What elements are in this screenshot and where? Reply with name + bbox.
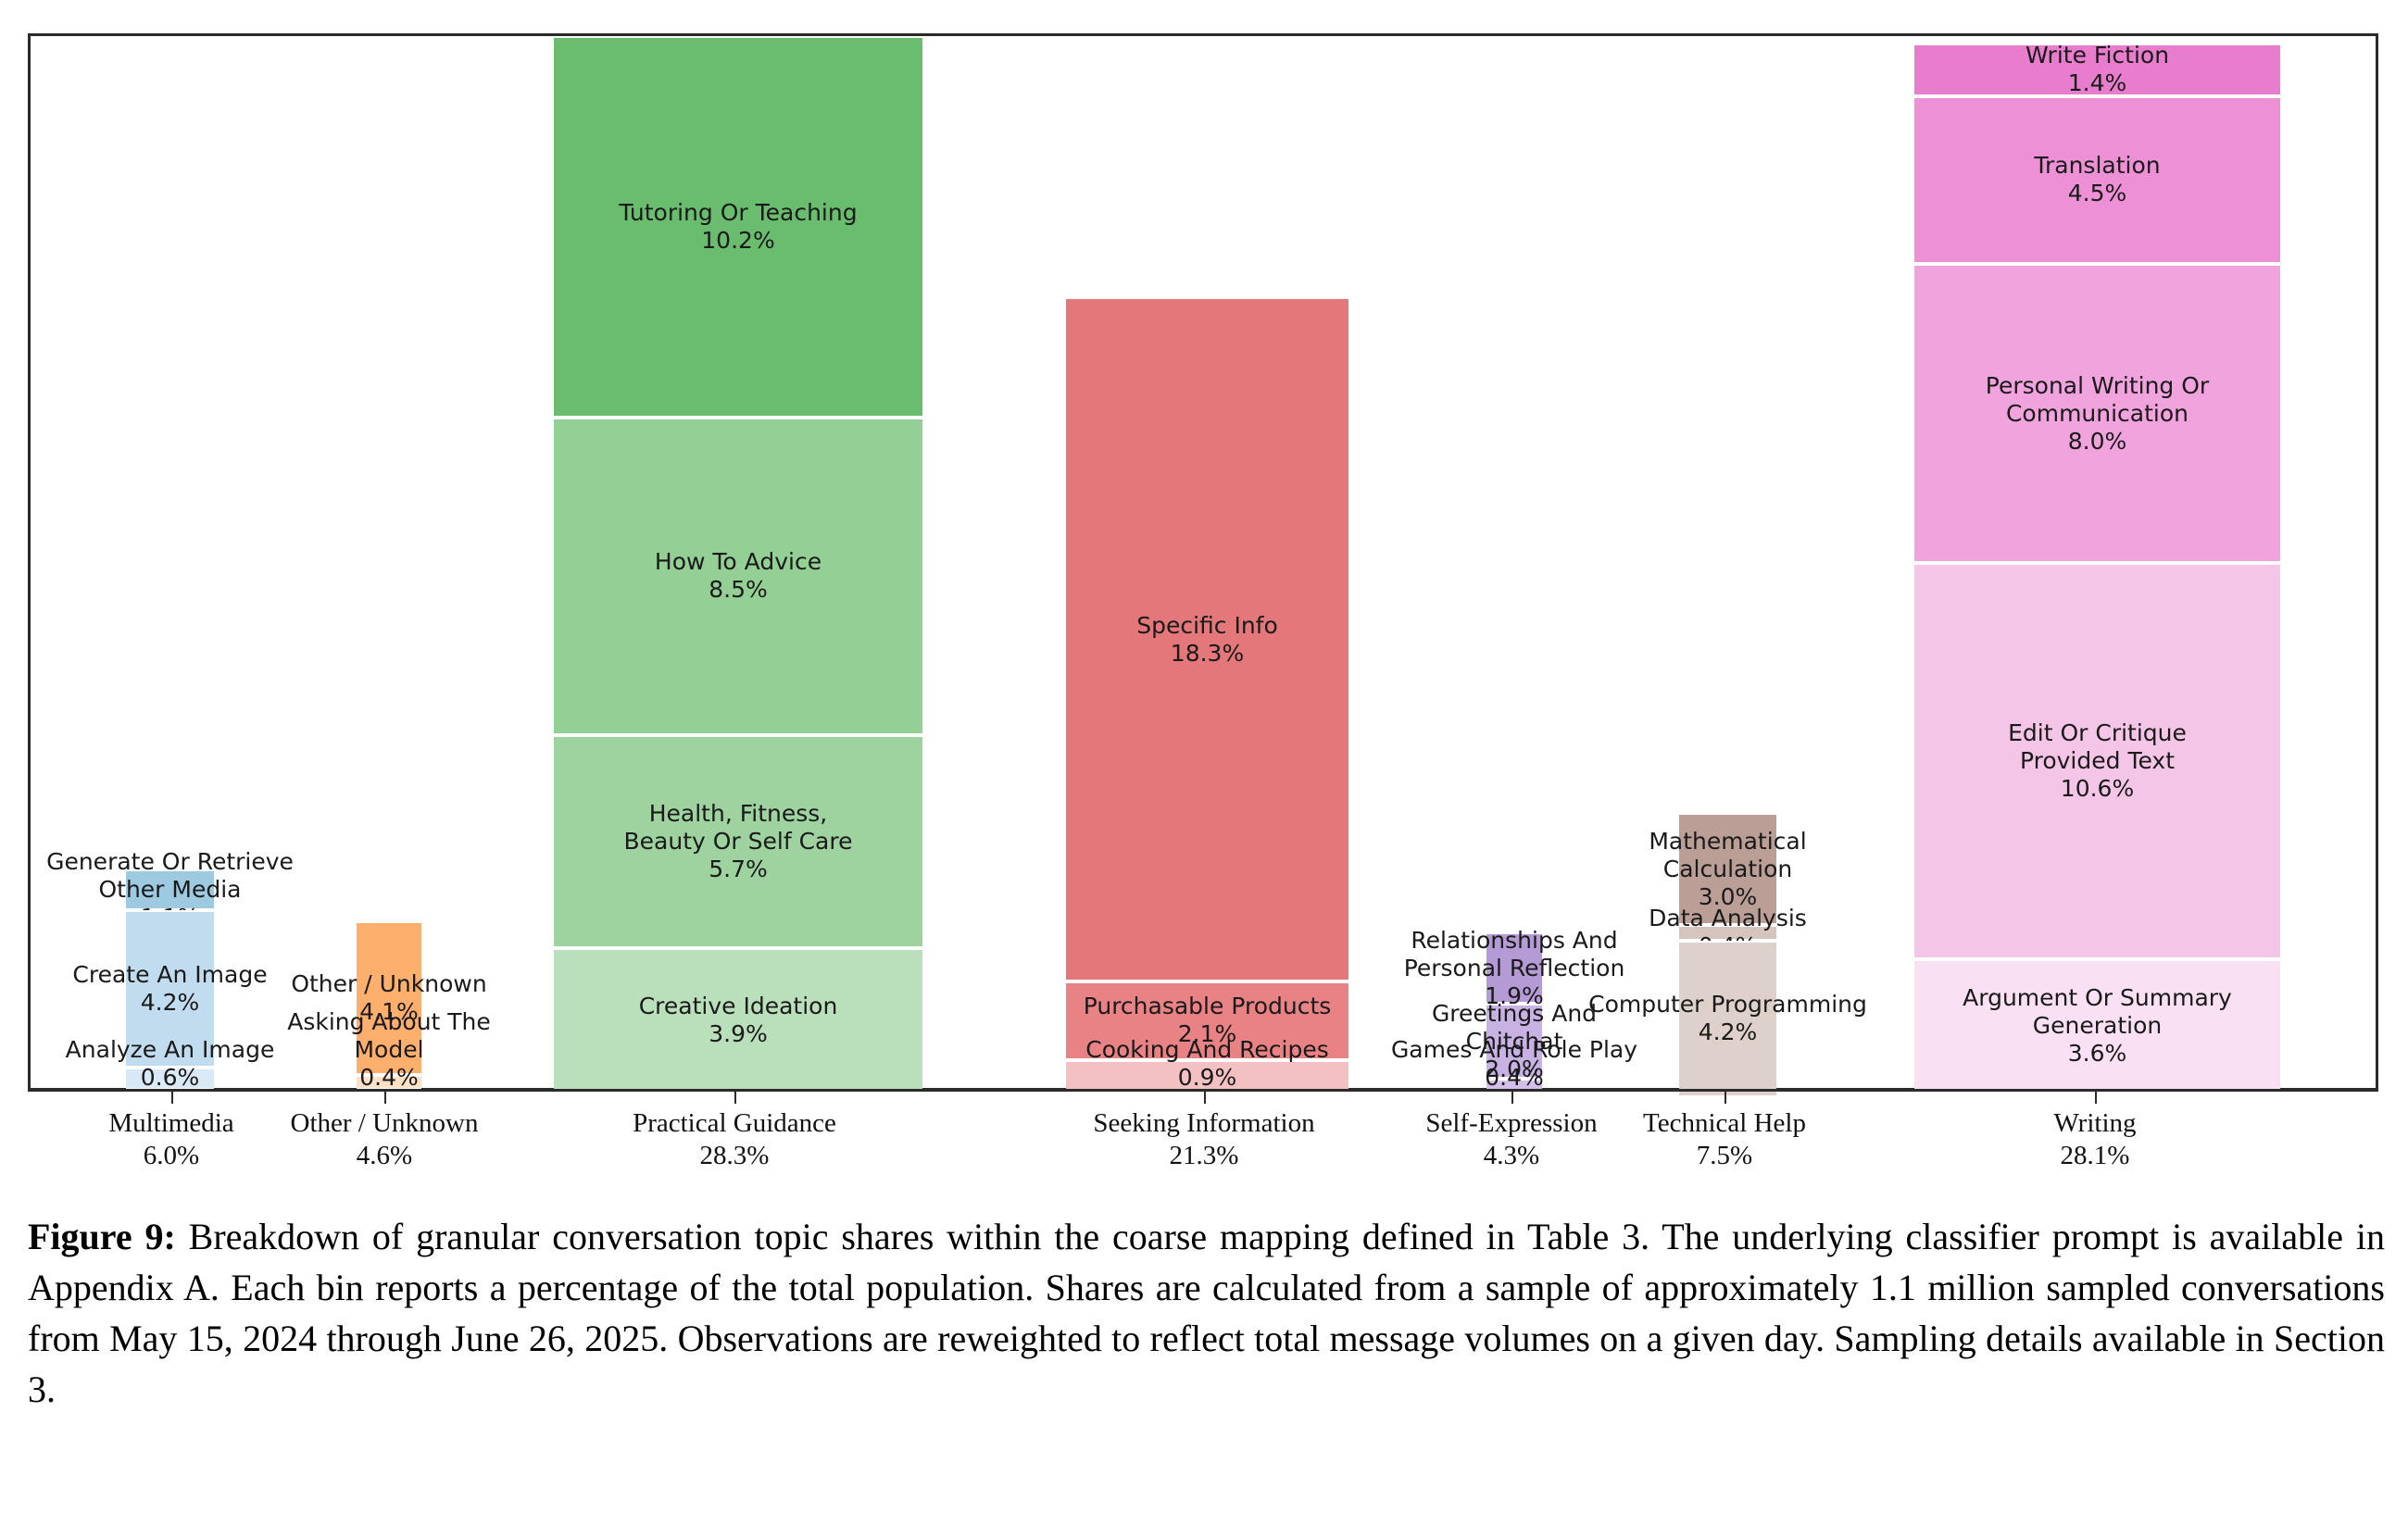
x-axis-label-name: Seeking Information xyxy=(1093,1108,1314,1138)
mosaic-segment[interactable] xyxy=(1679,925,1776,940)
figure-page: Generate Or RetrieveOther Media1.1%Creat… xyxy=(0,0,2408,1537)
mosaic-column-technical-help[interactable]: MathematicalCalculation3.0%Data Analysis… xyxy=(1679,36,1776,1088)
mosaic-segment[interactable] xyxy=(1066,297,1348,981)
x-axis-label-name: Multimedia xyxy=(108,1108,233,1138)
x-axis-label-value: 28.3% xyxy=(633,1140,836,1172)
x-axis-label-name: Writing xyxy=(2053,1108,2136,1138)
mosaic-segment[interactable] xyxy=(1486,932,1542,1004)
mosaic-column-seeking-information[interactable]: Specific Info18.3%Purchasable Products2.… xyxy=(1066,36,1348,1088)
mosaic-plot-frame: Generate Or RetrieveOther Media1.1%Creat… xyxy=(28,33,2378,1091)
x-axis-tick-multimedia xyxy=(171,1092,173,1104)
x-axis-label-other-unknown: Other / Unknown4.6% xyxy=(291,1107,479,1172)
x-axis-label-name: Technical Help xyxy=(1643,1108,1806,1138)
mosaic-column-other-unknown[interactable]: Other / Unknown4.1%Asking About TheModel… xyxy=(357,36,421,1088)
x-axis-tick-writing xyxy=(2095,1092,2097,1104)
mosaic-segment[interactable] xyxy=(554,418,922,735)
mosaic-segment[interactable] xyxy=(1066,981,1348,1060)
x-axis-label-name: Self-Expression xyxy=(1425,1108,1597,1138)
mosaic-segment[interactable] xyxy=(554,735,922,948)
x-axis-label-value: 7.5% xyxy=(1643,1140,1806,1172)
x-axis-tick-other-unknown xyxy=(384,1092,386,1104)
mosaic-segment[interactable] xyxy=(554,948,922,1093)
mosaic-column-writing[interactable]: Write Fiction1.4%Translation4.5%Personal… xyxy=(1914,36,2280,1088)
figure-caption: Figure 9: Breakdown of granular conversa… xyxy=(28,1211,2385,1415)
mosaic-segment[interactable] xyxy=(357,921,421,1074)
x-axis-line xyxy=(28,1089,2378,1092)
mosaic-plot-area: Generate Or RetrieveOther Media1.1%Creat… xyxy=(31,36,2376,1088)
mosaic-segment[interactable] xyxy=(1914,959,2280,1093)
x-axis-label-value: 4.3% xyxy=(1425,1140,1597,1172)
mosaic-segment[interactable] xyxy=(126,910,214,1067)
mosaic-segment[interactable] xyxy=(1679,813,1776,925)
mosaic-segment[interactable] xyxy=(126,869,214,910)
mosaic-column-practical-guidance[interactable]: Tutoring Or Teaching10.2%How To Advice8.… xyxy=(554,36,922,1088)
mosaic-column-self-expression[interactable]: Relationships AndPersonal Reflection1.9%… xyxy=(1486,36,1542,1088)
x-axis-label-multimedia: Multimedia6.0% xyxy=(108,1107,233,1172)
x-axis-label-value: 4.6% xyxy=(291,1140,479,1172)
x-axis-label-value: 21.3% xyxy=(1093,1140,1314,1172)
x-axis-label-self-expression: Self-Expression4.3% xyxy=(1425,1107,1597,1172)
mosaic-segment[interactable] xyxy=(357,1075,421,1090)
mosaic-segment[interactable] xyxy=(1914,44,2280,95)
mosaic-segment[interactable] xyxy=(1914,96,2280,265)
x-axis-tick-practical-guidance xyxy=(734,1092,736,1104)
x-axis-tick-self-expression xyxy=(1511,1092,1513,1104)
x-axis-label-writing: Writing28.1% xyxy=(2053,1107,2136,1172)
x-axis-tick-seeking-information xyxy=(1204,1092,1206,1104)
x-axis-label-practical-guidance: Practical Guidance28.3% xyxy=(633,1107,836,1172)
x-axis-label-name: Other / Unknown xyxy=(291,1108,479,1138)
mosaic-segment[interactable] xyxy=(1679,941,1776,1097)
mosaic-segment[interactable] xyxy=(1914,563,2280,959)
mosaic-segment[interactable] xyxy=(554,36,922,418)
mosaic-column-multimedia[interactable]: Generate Or RetrieveOther Media1.1%Creat… xyxy=(126,36,214,1088)
x-axis-label-name: Practical Guidance xyxy=(633,1108,836,1138)
mosaic-segment[interactable] xyxy=(126,1068,214,1090)
mosaic-segment[interactable] xyxy=(1914,264,2280,563)
mosaic-segment[interactable] xyxy=(1486,1004,1542,1079)
x-axis-label-technical-help: Technical Help7.5% xyxy=(1643,1107,1806,1172)
x-axis-tick-technical-help xyxy=(1724,1092,1726,1104)
figure-caption-label: Figure 9: xyxy=(28,1216,176,1257)
x-axis-label-seeking-information: Seeking Information21.3% xyxy=(1093,1107,1314,1172)
x-axis-label-value: 28.1% xyxy=(2053,1140,2136,1172)
x-axis-label-value: 6.0% xyxy=(108,1140,233,1172)
figure-caption-text: Breakdown of granular conversation topic… xyxy=(28,1216,2385,1410)
